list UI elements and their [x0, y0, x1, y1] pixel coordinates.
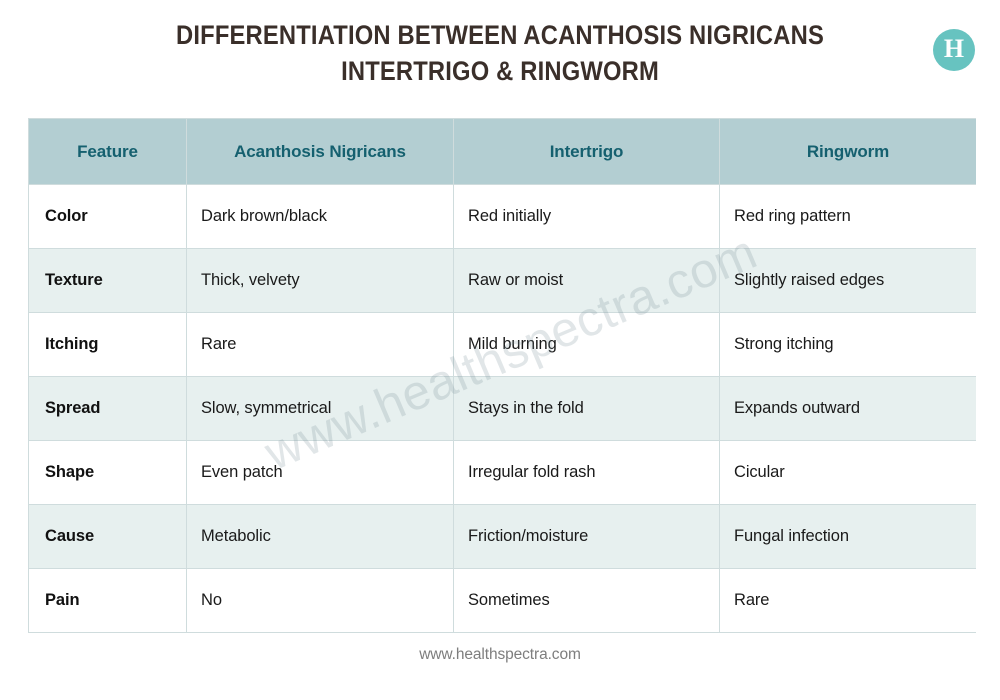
table-header-row: Feature Acanthosis Nigricans Intertrigo …: [29, 119, 977, 185]
page-header: DIFFERENTIATION BETWEEN ACANTHOSIS NIGRI…: [0, 0, 1000, 92]
cell-feature: Texture: [29, 249, 187, 313]
cell-intertrigo: Mild burning: [454, 313, 720, 377]
cell-intertrigo: Stays in the fold: [454, 377, 720, 441]
table-header: Feature Acanthosis Nigricans Intertrigo …: [29, 119, 977, 185]
footer-url: www.healthspectra.com: [0, 646, 1000, 664]
cell-ringworm: Slightly raised edges: [720, 249, 977, 313]
cell-acanthosis-nigricans: Thick, velvety: [187, 249, 454, 313]
cell-ringworm: Red ring pattern: [720, 185, 977, 249]
table-row: Pain No Sometimes Rare: [29, 569, 977, 633]
cell-intertrigo: Red initially: [454, 185, 720, 249]
page-title: DIFFERENTIATION BETWEEN ACANTHOSIS NIGRI…: [135, 18, 865, 89]
cell-feature: Pain: [29, 569, 187, 633]
column-header-feature: Feature: [29, 119, 187, 185]
cell-acanthosis-nigricans: Rare: [187, 313, 454, 377]
cell-ringworm: Expands outward: [720, 377, 977, 441]
column-header-ringworm: Ringworm: [720, 119, 977, 185]
cell-feature: Spread: [29, 377, 187, 441]
table-row: Shape Even patch Irregular fold rash Cic…: [29, 441, 977, 505]
cell-acanthosis-nigricans: No: [187, 569, 454, 633]
cell-ringworm: Fungal infection: [720, 505, 977, 569]
cell-intertrigo: Friction/moisture: [454, 505, 720, 569]
column-header-intertrigo: Intertrigo: [454, 119, 720, 185]
table-row: Color Dark brown/black Red initially Red…: [29, 185, 977, 249]
cell-acanthosis-nigricans: Dark brown/black: [187, 185, 454, 249]
cell-feature: Itching: [29, 313, 187, 377]
healthspectra-h-logo-icon: H: [933, 29, 975, 71]
table-row: Texture Thick, velvety Raw or moist Slig…: [29, 249, 977, 313]
cell-intertrigo: Sometimes: [454, 569, 720, 633]
cell-acanthosis-nigricans: Metabolic: [187, 505, 454, 569]
cell-ringworm: Rare: [720, 569, 977, 633]
table-row: Spread Slow, symmetrical Stays in the fo…: [29, 377, 977, 441]
table-row: Itching Rare Mild burning Strong itching: [29, 313, 977, 377]
cell-acanthosis-nigricans: Even patch: [187, 441, 454, 505]
cell-intertrigo: Irregular fold rash: [454, 441, 720, 505]
cell-intertrigo: Raw or moist: [454, 249, 720, 313]
cell-feature: Color: [29, 185, 187, 249]
comparison-table: Feature Acanthosis Nigricans Intertrigo …: [28, 118, 976, 633]
cell-ringworm: Cicular: [720, 441, 977, 505]
logo-letter: H: [944, 36, 964, 62]
cell-feature: Cause: [29, 505, 187, 569]
comparison-table-container: Feature Acanthosis Nigricans Intertrigo …: [28, 118, 976, 633]
table-row: Cause Metabolic Friction/moisture Fungal…: [29, 505, 977, 569]
column-header-acanthosis-nigricans: Acanthosis Nigricans: [187, 119, 454, 185]
table-body: Color Dark brown/black Red initially Red…: [29, 185, 977, 633]
cell-feature: Shape: [29, 441, 187, 505]
cell-acanthosis-nigricans: Slow, symmetrical: [187, 377, 454, 441]
infographic-page: DIFFERENTIATION BETWEEN ACANTHOSIS NIGRI…: [0, 0, 1000, 700]
cell-ringworm: Strong itching: [720, 313, 977, 377]
